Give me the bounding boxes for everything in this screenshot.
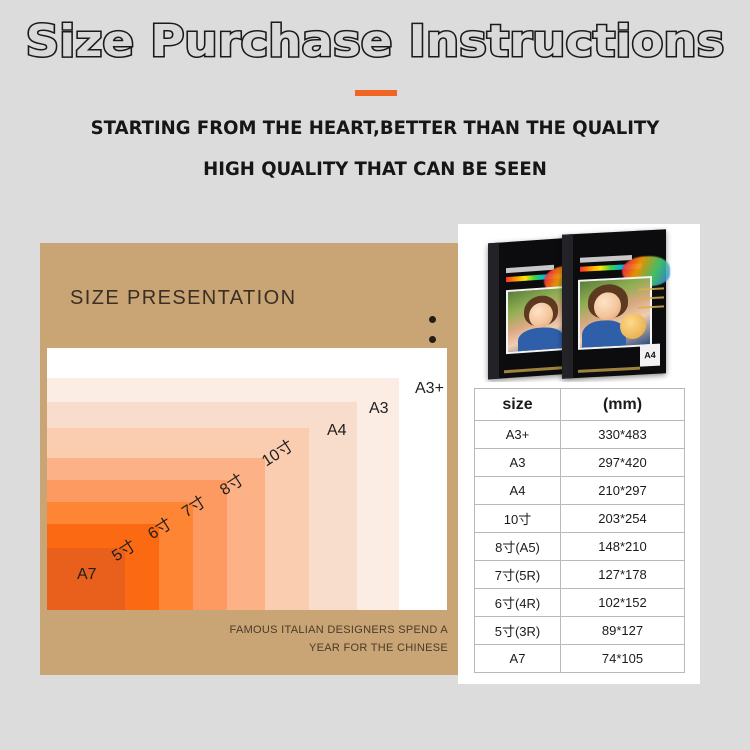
product-brand-line (506, 265, 554, 273)
page-title: Size Purchase Instructions (0, 16, 750, 67)
cell-mm: 148*210 (561, 533, 685, 561)
table-header-mm: (mm) (561, 389, 685, 421)
table-row: A774*105 (475, 645, 685, 673)
cell-size: 5寸(3R) (475, 617, 561, 645)
panel-caption-line-2: YEAR FOR THE CHINESE (309, 642, 448, 654)
cell-size: 10寸 (475, 505, 561, 533)
product-brand-line (580, 255, 632, 263)
decorative-dot-icon (429, 316, 436, 323)
size-label-A4: A4 (327, 422, 347, 440)
size-panel-title: SIZE PRESENTATION (70, 287, 296, 310)
product-footer-line (504, 366, 566, 373)
table-row: A3+330*483 (475, 421, 685, 449)
cell-size: A3 (475, 449, 561, 477)
cell-size: A3+ (475, 421, 561, 449)
table-row: 7寸(5R)127*178 (475, 561, 685, 589)
cell-mm: 89*127 (561, 617, 685, 645)
table-header-row: size (mm) (475, 389, 685, 421)
product-size-badge: A4 (640, 344, 660, 367)
table-row: 8寸(A5)148*210 (475, 533, 685, 561)
product-box-spine (562, 234, 573, 379)
cell-size: 8寸(A5) (475, 533, 561, 561)
cell-mm: 330*483 (561, 421, 685, 449)
product-cover-photo (578, 276, 652, 350)
cell-mm: 127*178 (561, 561, 685, 589)
page-header: Size Purchase Instructions STARTING FROM… (0, 0, 750, 200)
size-label-A3: A3 (369, 400, 389, 418)
cell-size: 7寸(5R) (475, 561, 561, 589)
table-row: 10寸203*254 (475, 505, 685, 533)
table-row: A3297*420 (475, 449, 685, 477)
title-divider (355, 90, 397, 96)
child-face (529, 302, 553, 329)
product-box-front: A4 (562, 229, 666, 378)
cell-size: 6寸(4R) (475, 589, 561, 617)
size-label-A7: A7 (77, 566, 97, 584)
cell-size: A7 (475, 645, 561, 673)
size-comparison-chart: A3+A3A410寸8寸7寸6寸5寸A7 (47, 348, 447, 610)
panel-caption-line-1: FAMOUS ITALIAN DESIGNERS SPEND A (230, 624, 448, 636)
size-label-A3+: A3+ (415, 380, 444, 398)
product-info-card: A4 size (mm) A3+330*483A3297*420A4210*29… (458, 224, 700, 684)
product-photo: A4 (458, 224, 700, 382)
subtitle-line-1: STARTING FROM THE HEART,BETTER THAN THE … (19, 117, 732, 139)
size-presentation-panel: SIZE PRESENTATION A3+A3A410寸8寸7寸6寸5寸A7 F… (40, 243, 468, 675)
cell-size: A4 (475, 477, 561, 505)
table-row: 6寸(4R)102*152 (475, 589, 685, 617)
cell-mm: 203*254 (561, 505, 685, 533)
table-row: 5寸(3R)89*127 (475, 617, 685, 645)
cell-mm: 210*297 (561, 477, 685, 505)
cell-mm: 297*420 (561, 449, 685, 477)
subtitle-line-2: HIGH QUALITY THAT CAN BE SEEN (19, 158, 732, 180)
table-row: A4210*297 (475, 477, 685, 505)
decorative-dot-icon (429, 336, 436, 343)
cell-mm: 102*152 (561, 589, 685, 617)
size-table: size (mm) A3+330*483A3297*420A4210*29710… (474, 388, 685, 673)
cell-mm: 74*105 (561, 645, 685, 673)
product-footer-line (578, 367, 640, 373)
child-body (518, 326, 564, 354)
product-box-spine (488, 243, 499, 380)
table-header-size: size (475, 389, 561, 421)
teddy-bear (620, 312, 646, 339)
panel-caption: FAMOUS ITALIAN DESIGNERS SPEND A YEAR FO… (160, 621, 448, 657)
